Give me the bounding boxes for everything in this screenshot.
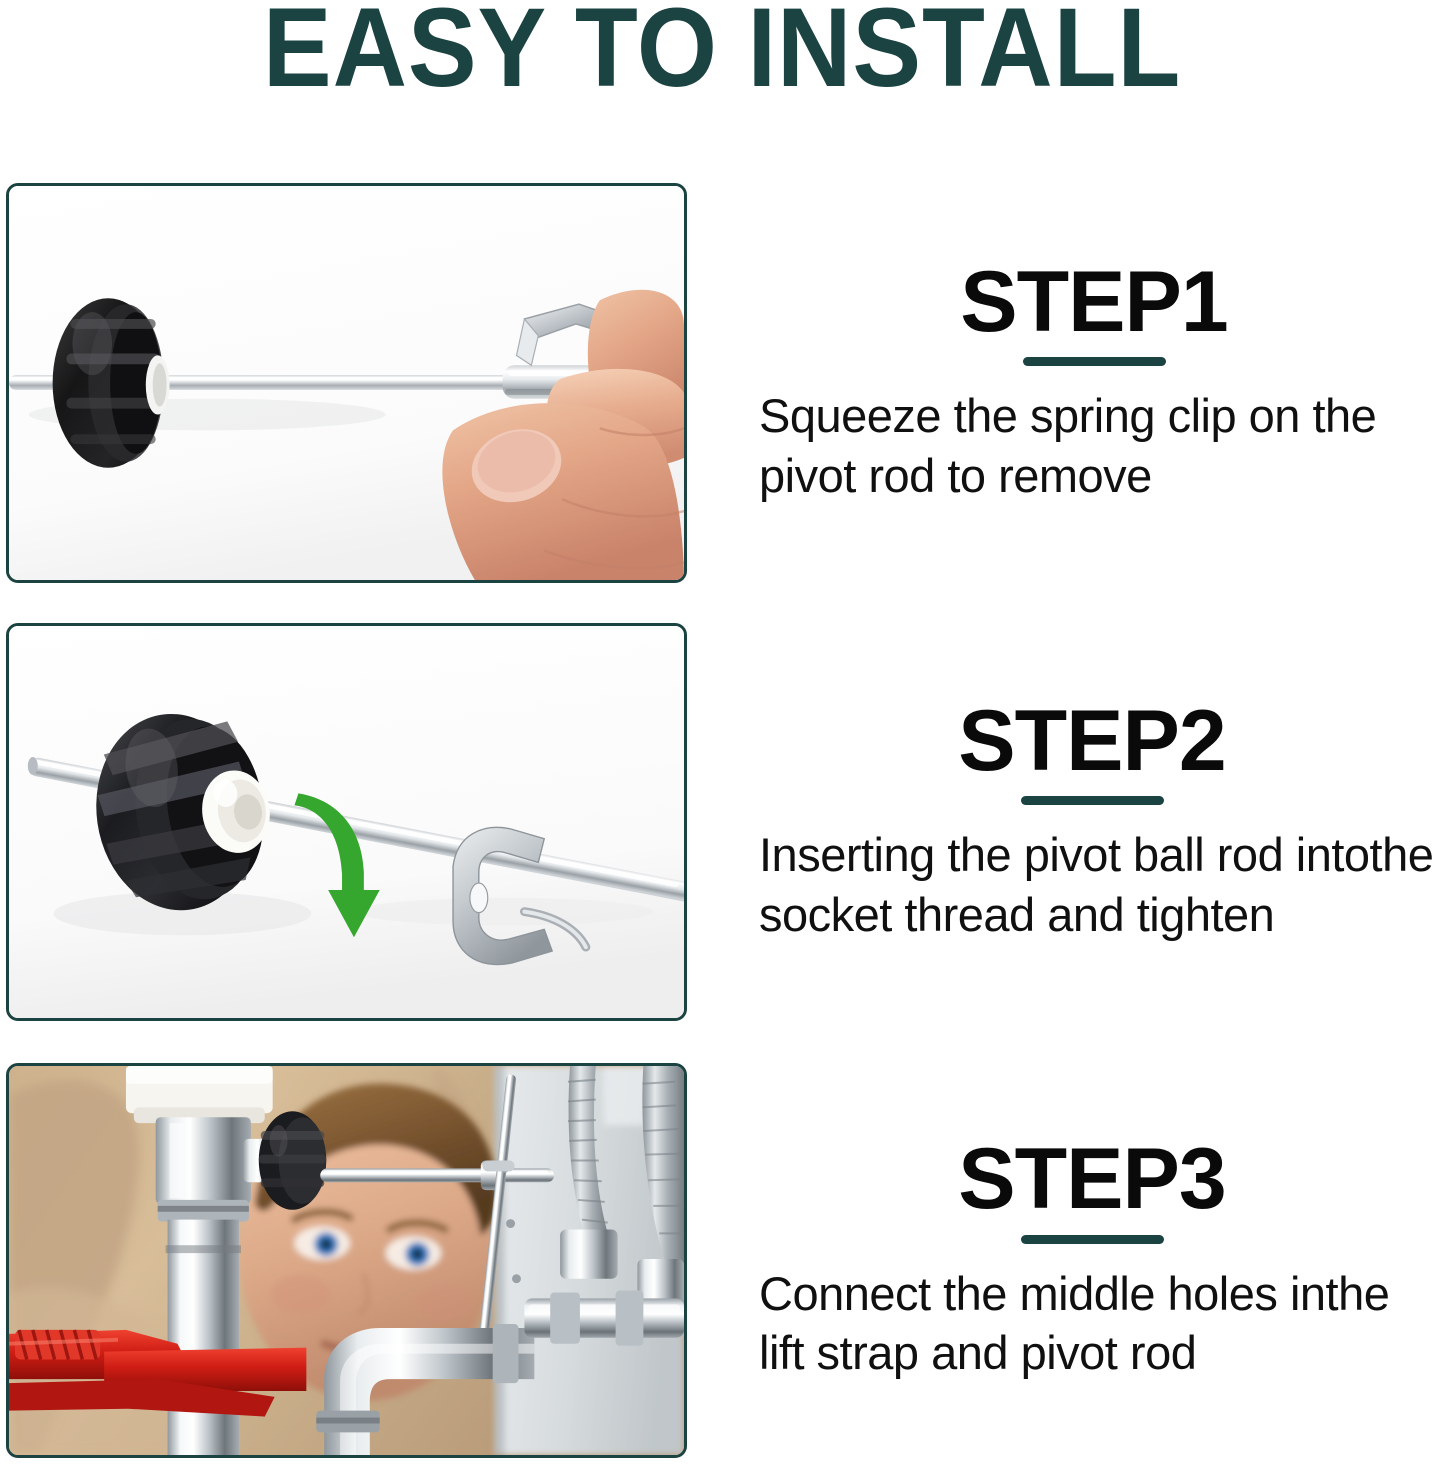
page-header: EASY TO INSTALL	[0, 0, 1445, 165]
step-2-underline	[1021, 796, 1164, 805]
step-2-body: Inserting the pivot ball rod intothe soc…	[759, 825, 1439, 944]
step-2-text: STEP2 Inserting the pivot ball rod intot…	[687, 623, 1439, 1021]
sink-tailpiece	[126, 1066, 273, 1123]
step-row-3: STEP3 Connect the middle holes inthe lif…	[6, 1063, 1439, 1458]
step-3-text: STEP3 Connect the middle holes inthe lif…	[687, 1063, 1439, 1458]
pivot-nut	[259, 1111, 326, 1209]
pivot-ball-rod-insert-illustration	[9, 626, 684, 1018]
step-row-1: STEP1 Squeeze the spring clip on the piv…	[6, 183, 1439, 583]
step-3-heading: STEP3	[958, 1138, 1225, 1221]
step-3-image-panel	[6, 1063, 687, 1458]
pivot-rod-spring-clip-illustration	[9, 186, 684, 580]
step-row-2: STEP2 Inserting the pivot ball rod intot…	[6, 623, 1439, 1021]
step-1-underline	[1023, 357, 1166, 366]
step-1-image-panel	[6, 183, 687, 583]
step-3-heading-wrap: STEP3	[759, 1138, 1439, 1244]
pivot-nut	[53, 298, 170, 467]
step-2-image-panel	[6, 623, 687, 1021]
step-1-text: STEP1 Squeeze the spring clip on the piv…	[687, 183, 1439, 583]
step-1-heading: STEP1	[960, 261, 1227, 344]
page-title: EASY TO INSTALL	[263, 0, 1181, 104]
step-2-heading: STEP2	[958, 700, 1225, 783]
step-2-heading-wrap: STEP2	[759, 700, 1439, 806]
step-3-body: Connect the middle holes inthe lift stra…	[759, 1264, 1439, 1383]
step-1-heading-wrap: STEP1	[759, 261, 1439, 367]
under-sink-assembly-illustration	[9, 1066, 684, 1455]
step-3-underline	[1021, 1235, 1164, 1244]
step-1-body: Squeeze the spring clip on the pivot rod…	[759, 386, 1439, 505]
